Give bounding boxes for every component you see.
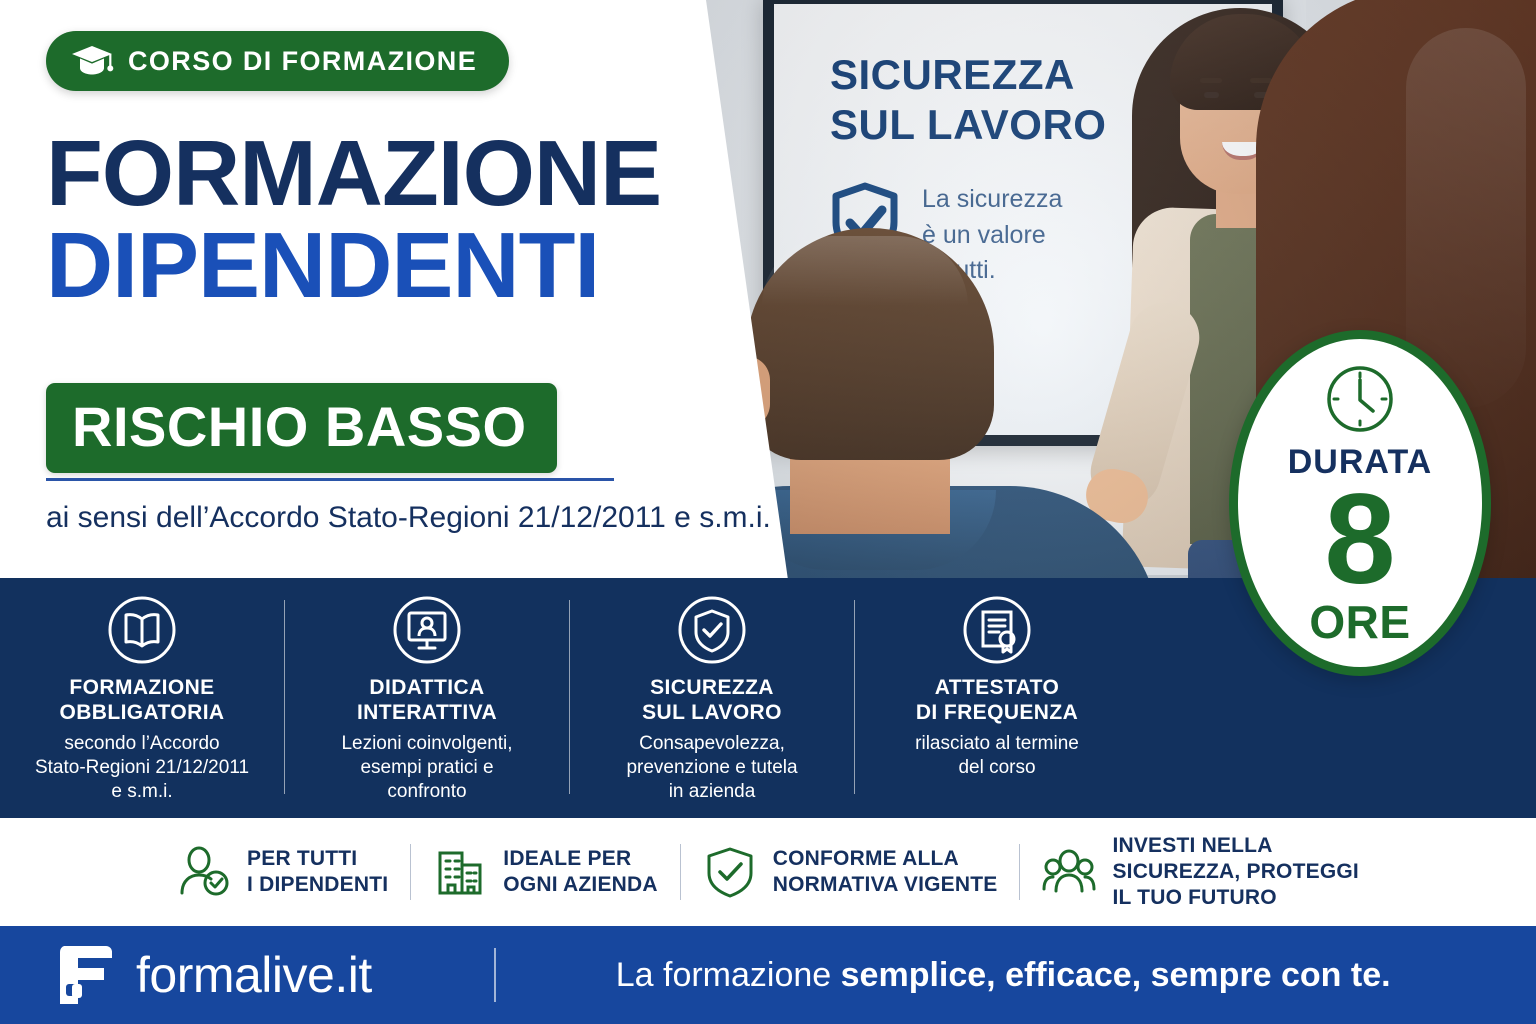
- benefit-line1: INVESTI NELLA: [1112, 833, 1358, 859]
- feature-title-l2: INTERATTIVA: [285, 701, 569, 726]
- slide-title: SICUREZZA SUL LAVORO: [830, 50, 1106, 149]
- risk-level-bar: RISCHIO BASSO: [46, 383, 557, 473]
- benefit-ideale-per-ogni-azienda: IDEALE PER OGNI AZIENDA: [411, 845, 679, 899]
- footer-bar: formalive.it La formazione semplice, eff…: [0, 926, 1536, 1024]
- feature-title-l1: DIDATTICA: [285, 676, 569, 701]
- feature-desc-l3: e s.m.i.: [0, 780, 284, 804]
- benefits-strip: PER TUTTI I DIPENDENTI IDEALE PER OGNI A…: [0, 818, 1536, 926]
- presenter-brow-left: [1200, 78, 1222, 83]
- feature-desc-l1: Lezioni coinvolgenti,: [285, 732, 569, 756]
- footer-divider: [494, 948, 496, 1002]
- feature-title-l1: SICUREZZA: [570, 676, 854, 701]
- feature-desc-l1: secondo l’Accordo: [0, 732, 284, 756]
- feature-title-l1: ATTESTATO: [855, 676, 1139, 701]
- open-book-icon: [106, 594, 178, 666]
- benefit-line1: IDEALE PER: [503, 846, 657, 872]
- presenter-eye-left: [1204, 92, 1219, 98]
- benefit-line2: I DIPENDENTI: [247, 872, 388, 898]
- clock-icon: [1322, 361, 1398, 437]
- feature-formazione-obbligatoria: FORMAZIONE OBBLIGATORIA secondo l’Accord…: [0, 594, 284, 804]
- benefit-line2: OGNI AZIENDA: [503, 872, 657, 898]
- title-line-2: DIPENDENTI: [46, 220, 661, 310]
- feature-desc-l2: del corso: [855, 756, 1139, 780]
- benefit-line1: CONFORME ALLA: [773, 846, 998, 872]
- feature-desc-l1: rilasciato al termine: [855, 732, 1139, 756]
- duration-number: 8: [1324, 484, 1395, 597]
- slide-title-line1: SICUREZZA: [830, 50, 1106, 100]
- benefit-text: INVESTI NELLA SICUREZZA, PROTEGGI IL TUO…: [1112, 833, 1358, 911]
- feature-title: SICUREZZA SUL LAVORO: [570, 676, 854, 726]
- slide-title-line2: SUL LAVORO: [830, 100, 1106, 150]
- feature-title: DIDATTICA INTERATTIVA: [285, 676, 569, 726]
- benefit-per-tutti-i-dipendenti: PER TUTTI I DIPENDENTI: [155, 845, 410, 899]
- monitor-person-icon: [391, 594, 463, 666]
- feature-didattica-interattiva: DIDATTICA INTERATTIVA Lezioni coinvolgen…: [285, 594, 569, 804]
- formalive-f-logo-icon: [58, 944, 116, 1006]
- benefit-line2: SICUREZZA, PROTEGGI: [1112, 859, 1358, 885]
- benefit-text: CONFORME ALLA NORMATIVA VIGENTE: [773, 846, 998, 898]
- user-check-icon: [177, 845, 231, 899]
- duration-unit: ORE: [1309, 595, 1410, 649]
- divider-rule: [46, 478, 614, 481]
- title-line-1: FORMAZIONE: [46, 128, 661, 218]
- course-type-label: CORSO DI FORMAZIONE: [128, 46, 477, 77]
- duration-badge: DURATA 8 ORE: [1229, 330, 1491, 676]
- feature-desc: secondo l’Accordo Stato-Regioni 21/12/20…: [0, 732, 284, 805]
- feature-desc-l1: Consapevolezza,: [570, 732, 854, 756]
- feature-title-l1: FORMAZIONE: [0, 676, 284, 701]
- certificate-icon: [961, 594, 1033, 666]
- tagline-regular: La formazione: [616, 956, 841, 994]
- feature-title-l2: DI FREQUENZA: [855, 701, 1139, 726]
- feature-title: ATTESTATO DI FREQUENZA: [855, 676, 1139, 726]
- benefit-line2: NORMATIVA VIGENTE: [773, 872, 998, 898]
- shield-check-icon: [703, 845, 757, 899]
- page-title: FORMAZIONE DIPENDENTI: [46, 128, 661, 310]
- buildings-icon: [433, 845, 487, 899]
- feature-desc: Consapevolezza, prevenzione e tutela in …: [570, 732, 854, 805]
- feature-desc-l3: in azienda: [570, 780, 854, 804]
- feature-desc-l2: Stato-Regioni 21/12/2011: [0, 756, 284, 780]
- feature-desc-l2: prevenzione e tutela: [570, 756, 854, 780]
- benefit-line3: IL TUO FUTURO: [1112, 885, 1358, 911]
- legal-reference: ai sensi dell’Accordo Stato-Regioni 21/1…: [46, 498, 771, 538]
- feature-attestato-di-frequenza: ATTESTATO DI FREQUENZA rilasciato al ter…: [855, 594, 1139, 780]
- feature-desc-l2: esempi pratici e: [285, 756, 569, 780]
- attendee-man-hair: [746, 228, 994, 460]
- tagline-bold: semplice, efficace, sempre con te.: [841, 956, 1391, 994]
- slide-sub-line1: La sicurezza: [922, 182, 1062, 218]
- brand-name: formalive.it: [136, 946, 372, 1004]
- benefit-investi-nella-sicurezza: INVESTI NELLA SICUREZZA, PROTEGGI IL TUO…: [1020, 833, 1380, 911]
- benefit-text: IDEALE PER OGNI AZIENDA: [503, 846, 657, 898]
- course-type-badge: CORSO DI FORMAZIONE: [46, 31, 509, 91]
- feature-title-l2: OBBLIGATORIA: [0, 701, 284, 726]
- footer-tagline: La formazione semplice, efficace, sempre…: [616, 956, 1391, 995]
- people-group-icon: [1042, 845, 1096, 899]
- feature-title-l2: SUL LAVORO: [570, 701, 854, 726]
- feature-desc: Lezioni coinvolgenti, esempi pratici e c…: [285, 732, 569, 805]
- brand-lockup[interactable]: formalive.it: [58, 944, 372, 1006]
- shield-check-icon: [676, 594, 748, 666]
- feature-title: FORMAZIONE OBBLIGATORIA: [0, 676, 284, 726]
- risk-level-label: RISCHIO BASSO: [72, 395, 527, 458]
- poster-root: SICUREZZA SUL LAVORO La sicurezza è un v…: [0, 0, 1536, 1024]
- feature-desc-l3: confronto: [285, 780, 569, 804]
- graduation-cap-icon: [70, 44, 114, 78]
- benefit-text: PER TUTTI I DIPENDENTI: [247, 846, 388, 898]
- feature-sicurezza-sul-lavoro: SICUREZZA SUL LAVORO Consapevolezza, pre…: [570, 594, 854, 804]
- feature-desc: rilasciato al termine del corso: [855, 732, 1139, 781]
- benefit-conforme-alla-normativa: CONFORME ALLA NORMATIVA VIGENTE: [681, 845, 1020, 899]
- benefit-line1: PER TUTTI: [247, 846, 388, 872]
